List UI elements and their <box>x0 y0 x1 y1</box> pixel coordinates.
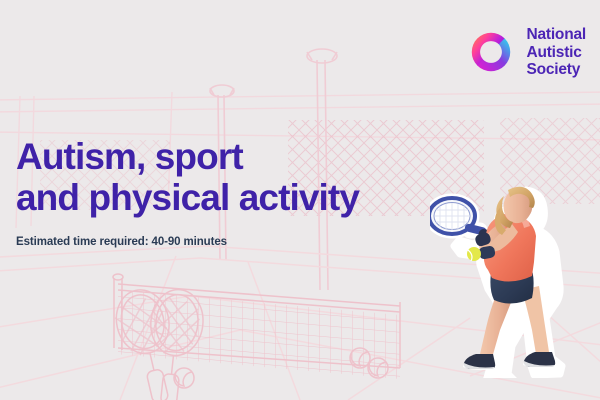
headline-block: Autism, sport and physical activity Esti… <box>16 136 359 248</box>
logo-line-2: Autistic <box>526 44 586 62</box>
page-title: Autism, sport and physical activity <box>16 136 359 219</box>
ring-logo-icon <box>465 26 517 78</box>
estimated-time-label: Estimated time required: 40-90 minutes <box>16 236 359 248</box>
national-autistic-society-logo[interactable]: National Autistic Society <box>465 26 586 79</box>
tennis-ball <box>467 247 481 261</box>
logo-wordmark: National Autistic Society <box>526 26 586 79</box>
logo-line-1: National <box>526 26 586 44</box>
banner-hero: National Autistic Society Autism, sport … <box>0 0 600 400</box>
tennis-player-photo <box>430 178 600 378</box>
page-title-line-2: and physical activity <box>16 177 359 218</box>
page-title-line-1: Autism, sport <box>16 136 359 177</box>
logo-line-3: Society <box>526 61 586 79</box>
